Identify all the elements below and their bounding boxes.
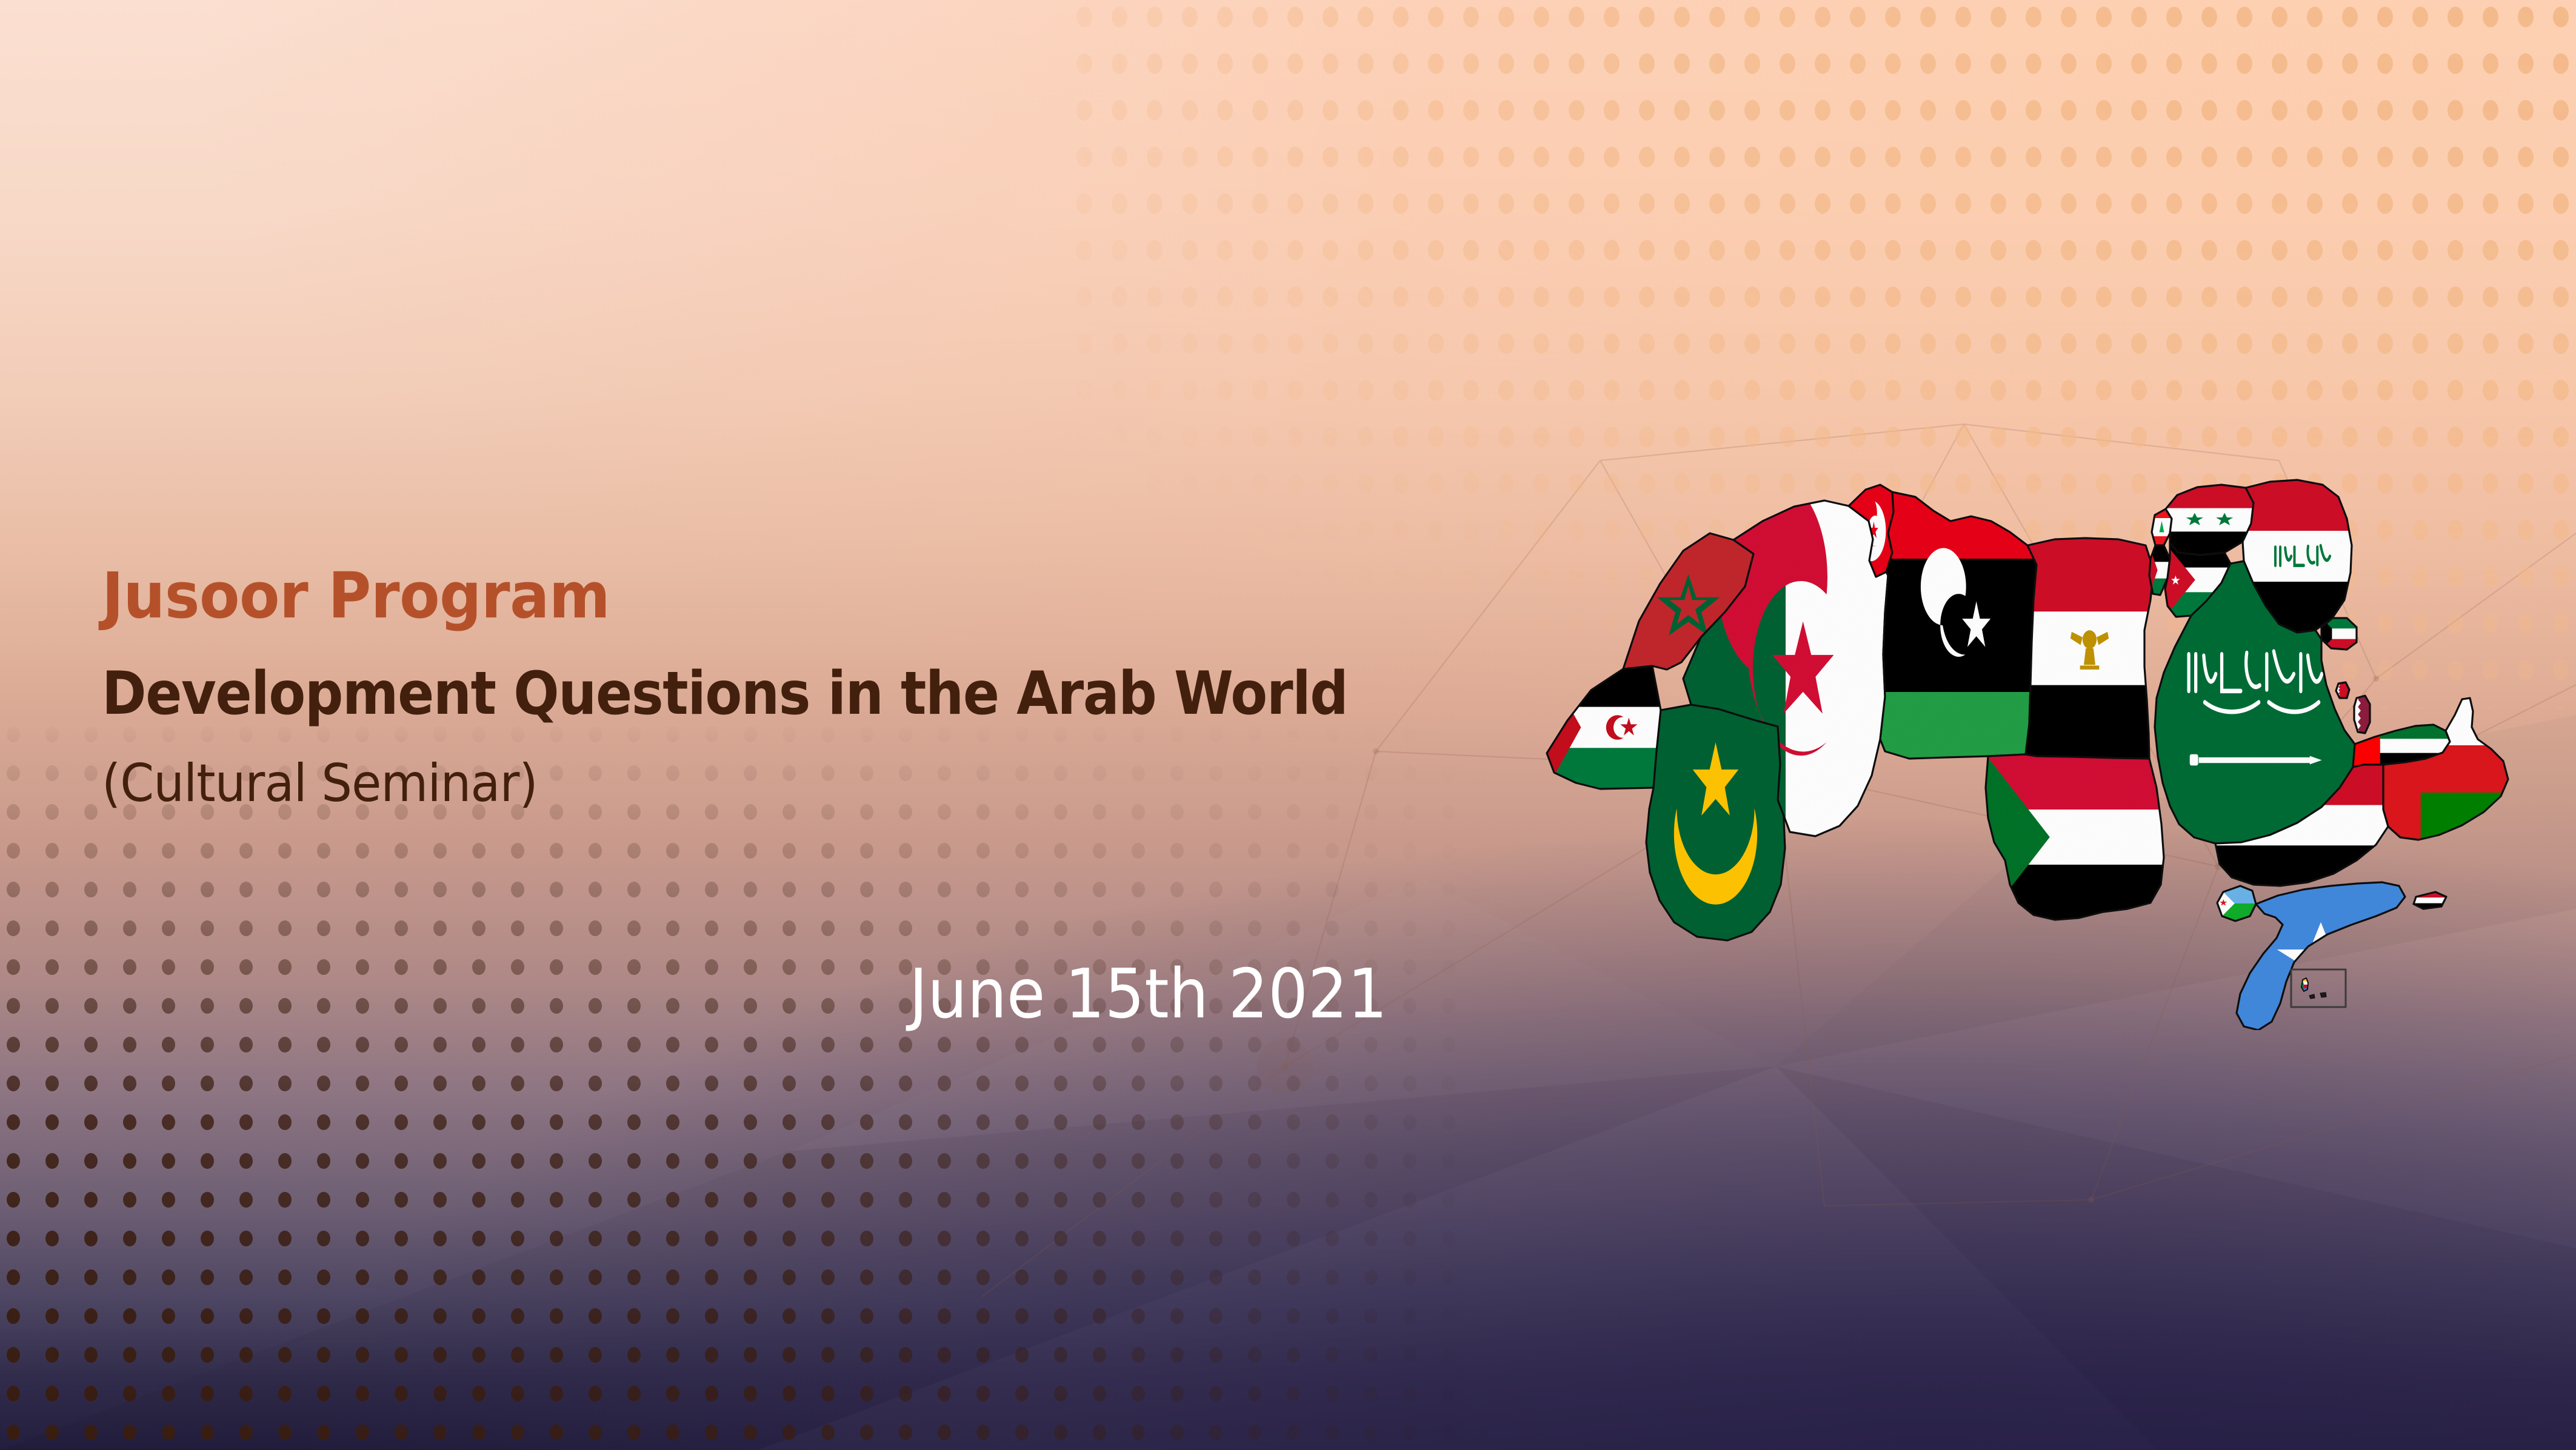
comoros-inset-box <box>2291 969 2346 1007</box>
island-comoros-anjouan <box>2320 993 2326 997</box>
subtitle: (Cultural Seminar) <box>102 757 1427 811</box>
country-mauritania <box>1646 705 1785 940</box>
headline-block: Jusoor Program Development Questions in … <box>102 564 1526 811</box>
country-qatar <box>2354 696 2370 733</box>
country-bahrain <box>2336 682 2349 698</box>
island-comoros-moheli <box>2309 994 2315 999</box>
page-title: Development Questions in the Arab World <box>102 664 1391 725</box>
country-oman <box>2383 698 2508 840</box>
country-sudan <box>1986 754 2164 920</box>
event-date: June 15th 2021 <box>909 960 1387 1028</box>
country-djibouti <box>2217 886 2256 921</box>
country-western-sahara <box>1547 666 1661 789</box>
island-socotra <box>2414 892 2446 909</box>
program-title: Jusoor Program <box>102 564 1427 628</box>
country-libya <box>1880 492 2037 759</box>
country-syria <box>2166 485 2254 555</box>
country-kuwait <box>2321 618 2357 650</box>
island-comoros-grande <box>2301 978 2308 991</box>
halftone-dots-bottom-left <box>0 715 1485 1450</box>
slide-canvas: Jusoor Program Development Questions in … <box>0 0 2576 1450</box>
country-egypt <box>2026 538 2154 759</box>
arab-world-flag-map <box>1509 424 2576 1030</box>
